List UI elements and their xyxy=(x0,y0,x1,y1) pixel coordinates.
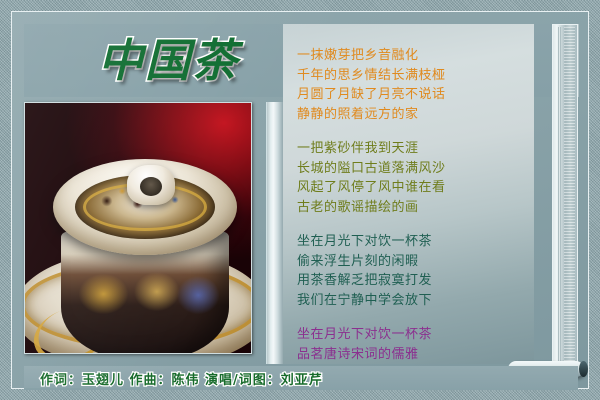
lyrics-stanza: 坐在月光下对饮一杯茶品茗唐诗宋词的儒雅洗去了浮华沉淀了年华我们在时光中回味爱的刹… xyxy=(297,325,528,364)
screenshot-root: 中国茶 一抹嫩芽把乡音融化千年的思乡情结长满枝桠月圆了月缺了月亮不说话静静的照着… xyxy=(0,0,600,400)
lyrics-line: 千年的思乡情结长满枝桠 xyxy=(297,66,528,86)
lyrics-line: 品茗唐诗宋词的儒雅 xyxy=(297,345,528,365)
lyrics-line: 一把紫砂伴我到天涯 xyxy=(297,139,528,159)
scroll-rail-groove xyxy=(558,27,561,361)
lyrics-panel: 一抹嫩芽把乡音融化千年的思乡情结长满枝桠月圆了月缺了月亮不说话静静的照着远方的家… xyxy=(283,24,534,364)
lyrics-line: 一抹嫩芽把乡音融化 xyxy=(297,46,528,66)
lyrics-line: 坐在月光下对饮一杯茶 xyxy=(297,325,528,345)
lyrics-line: 月圆了月缺了月亮不说话 xyxy=(297,85,528,105)
credits-bar: 作词：玉翅儿 作曲：陈伟 演唱/词图：刘亚芹 xyxy=(24,366,578,390)
lyrics-line: 用茶香解乏把寂寞打发 xyxy=(297,271,528,291)
bowl-decoration xyxy=(71,265,219,323)
lyrics-line: 风起了风停了风中谁在看 xyxy=(297,178,528,198)
lyrics-line: 静静的照着远方的家 xyxy=(297,105,528,125)
lyrics-stanza: 一把紫砂伴我到天涯长城的隘口古道落满风沙风起了风停了风中谁在看古老的歌谣描绘的画 xyxy=(297,139,528,217)
lyrics-stanza: 坐在月光下对饮一杯茶偷来浮生片刻的闲暇用茶香解乏把寂寞打发我们在宁静中学会放下 xyxy=(297,232,528,310)
lyrics-line: 古老的歌谣描绘的画 xyxy=(297,198,528,218)
credits-text: 作词：玉翅儿 作曲：陈伟 演唱/词图：刘亚芹 xyxy=(40,369,323,388)
lyrics-stanza: 一抹嫩芽把乡音融化千年的思乡情结长满枝桠月圆了月缺了月亮不说话静静的照着远方的家 xyxy=(297,46,528,124)
lyrics-line: 长城的隘口古道落满风沙 xyxy=(297,159,528,179)
lyrics-content: 一抹嫩芽把乡音融化千年的思乡情结长满枝桠月圆了月缺了月亮不说话静静的照着远方的家… xyxy=(297,46,528,364)
lyrics-line: 我们在宁静中学会放下 xyxy=(297,291,528,311)
tea-photo xyxy=(24,102,252,354)
teacup-lid xyxy=(53,159,237,255)
lyrics-line: 偷来浮生片刻的闲暇 xyxy=(297,252,528,272)
page-title: 中国茶 xyxy=(98,38,239,84)
lid-knob xyxy=(127,165,175,205)
lyrics-line: 坐在月光下对饮一杯茶 xyxy=(297,232,528,252)
vertical-scroll-rail[interactable] xyxy=(552,24,578,364)
handle-end-cap xyxy=(579,361,588,377)
main-card: 中国茶 一抹嫩芽把乡音融化千年的思乡情结长满枝桠月圆了月缺了月亮不说话静静的照着… xyxy=(11,11,589,389)
scroll-rail-texture xyxy=(564,27,575,361)
